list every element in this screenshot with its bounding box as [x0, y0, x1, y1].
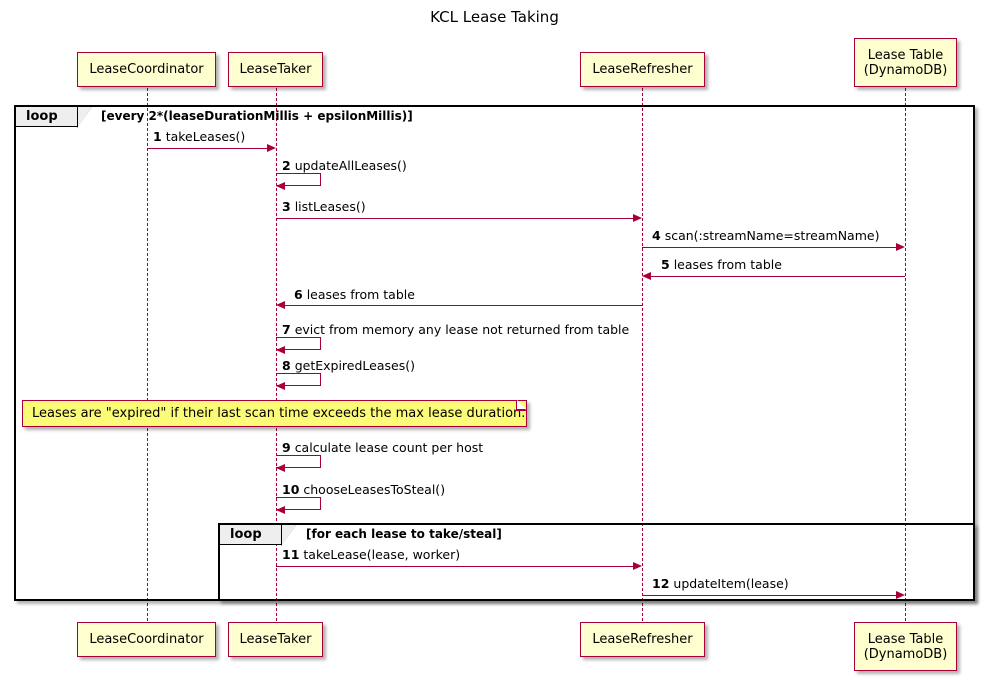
- message-11-line: [276, 566, 633, 567]
- message-4-line: [642, 247, 896, 248]
- sequence-diagram-canvas: KCL Lease Taking loop [every 2*(leaseDur…: [0, 0, 989, 681]
- message-10-arrowhead: [276, 506, 285, 514]
- message-3-number: 3: [282, 199, 291, 214]
- message-2-text: updateAllLeases(): [295, 158, 407, 173]
- fragment-inner-loop-tab-cut: [282, 525, 296, 545]
- participant-taker-top[interactable]: LeaseTaker: [228, 52, 323, 87]
- participant-coordinator-top[interactable]: LeaseCoordinator: [77, 52, 216, 87]
- participant-taker-bottom-label: LeaseTaker: [240, 632, 312, 647]
- fragment-outer-loop-condition: [every 2*(leaseDurationMillis + epsilonM…: [101, 109, 413, 123]
- message-12-text: updateItem(lease): [673, 576, 788, 591]
- note-fold-corner-inner: [517, 400, 526, 409]
- message-4-number: 4: [652, 228, 661, 243]
- participant-coordinator-bottom-label: LeaseCoordinator: [89, 632, 203, 647]
- message-5-arrowhead: [642, 272, 651, 280]
- message-8-arrowhead: [276, 382, 285, 390]
- message-1-line: [147, 148, 267, 149]
- participant-table-top[interactable]: Lease Table (DynamoDB): [854, 38, 957, 87]
- participant-table-top-label-line2: (DynamoDB): [864, 63, 948, 78]
- message-6-text: leases from table: [307, 287, 415, 302]
- participant-table-bottom-label-line1: Lease Table: [868, 632, 944, 647]
- message-6-arrowhead: [276, 301, 285, 309]
- message-3-line: [276, 218, 633, 219]
- message-5-label: 5 leases from table: [661, 257, 782, 272]
- participant-table-top-label-line1: Lease Table: [868, 48, 944, 63]
- message-10-label: 10 chooseLeasesToSteal(): [282, 482, 445, 497]
- participant-refresher-top-label: LeaseRefresher: [592, 62, 692, 77]
- fragment-outer-loop-name: loop: [26, 109, 58, 124]
- participant-taker-top-label: LeaseTaker: [240, 62, 312, 77]
- message-4-arrowhead: [896, 243, 905, 251]
- note-expired-definition-text: Leases are "expired" if their last scan …: [32, 406, 525, 421]
- message-11-label: 11 takeLease(lease, worker): [282, 547, 460, 562]
- message-8-number: 8: [282, 358, 291, 373]
- fragment-outer-loop-tab-cut: [78, 107, 92, 127]
- message-2-label: 2 updateAllLeases(): [282, 158, 407, 173]
- fragment-inner-loop-name: loop: [230, 527, 262, 542]
- message-12-arrowhead: [896, 591, 905, 599]
- participant-taker-bottom[interactable]: LeaseTaker: [228, 622, 323, 657]
- message-10-text: chooseLeasesToSteal(): [303, 482, 445, 497]
- message-8-label: 8 getExpiredLeases(): [282, 358, 415, 373]
- message-7-label: 7 evict from memory any lease not return…: [282, 322, 629, 337]
- message-4-label: 4 scan(:streamName=streamName): [652, 228, 879, 243]
- message-12-label: 12 updateItem(lease): [652, 576, 789, 591]
- message-5-text: leases from table: [674, 257, 782, 272]
- participant-refresher-bottom-label: LeaseRefresher: [592, 632, 692, 647]
- message-12-number: 12: [652, 576, 669, 591]
- participant-refresher-bottom[interactable]: LeaseRefresher: [580, 622, 705, 657]
- note-expired-definition: Leases are "expired" if their last scan …: [22, 400, 527, 427]
- message-1-number: 1: [153, 129, 162, 144]
- message-9-arrowhead: [276, 464, 285, 472]
- message-6-line: [285, 305, 642, 306]
- message-1-text: takeLeases(): [166, 129, 246, 144]
- fragment-inner-loop-condition: [for each lease to take/steal]: [306, 527, 502, 541]
- message-7-text: evict from memory any lease not returned…: [295, 322, 630, 337]
- participant-coordinator-bottom[interactable]: LeaseCoordinator: [77, 622, 216, 657]
- message-7-number: 7: [282, 322, 291, 337]
- participant-refresher-top[interactable]: LeaseRefresher: [580, 52, 705, 87]
- message-1-arrowhead: [267, 144, 276, 152]
- message-3-arrowhead: [633, 214, 642, 222]
- message-9-text: calculate lease count per host: [295, 440, 483, 455]
- message-6-number: 6: [294, 287, 303, 302]
- message-10-number: 10: [282, 482, 299, 497]
- message-8-text: getExpiredLeases(): [295, 358, 415, 373]
- message-1-label: 1 takeLeases(): [153, 129, 245, 144]
- message-11-arrowhead: [633, 562, 642, 570]
- message-2-arrowhead: [276, 182, 285, 190]
- message-4-text: scan(:streamName=streamName): [665, 228, 880, 243]
- message-3-text: listLeases(): [295, 199, 366, 214]
- message-3-label: 3 listLeases(): [282, 199, 366, 214]
- participant-table-bottom[interactable]: Lease Table (DynamoDB): [854, 622, 957, 671]
- participant-table-bottom-label-line2: (DynamoDB): [864, 647, 948, 662]
- message-5-number: 5: [661, 257, 670, 272]
- diagram-title: KCL Lease Taking: [0, 8, 989, 26]
- message-2-number: 2: [282, 158, 291, 173]
- message-11-text: takeLease(lease, worker): [303, 547, 460, 562]
- message-5-line: [651, 276, 905, 277]
- participant-coordinator-top-label: LeaseCoordinator: [89, 62, 203, 77]
- message-12-line: [642, 595, 896, 596]
- message-6-label: 6 leases from table: [294, 287, 415, 302]
- message-9-number: 9: [282, 440, 291, 455]
- message-7-arrowhead: [276, 346, 285, 354]
- message-11-number: 11: [282, 547, 299, 562]
- message-9-label: 9 calculate lease count per host: [282, 440, 483, 455]
